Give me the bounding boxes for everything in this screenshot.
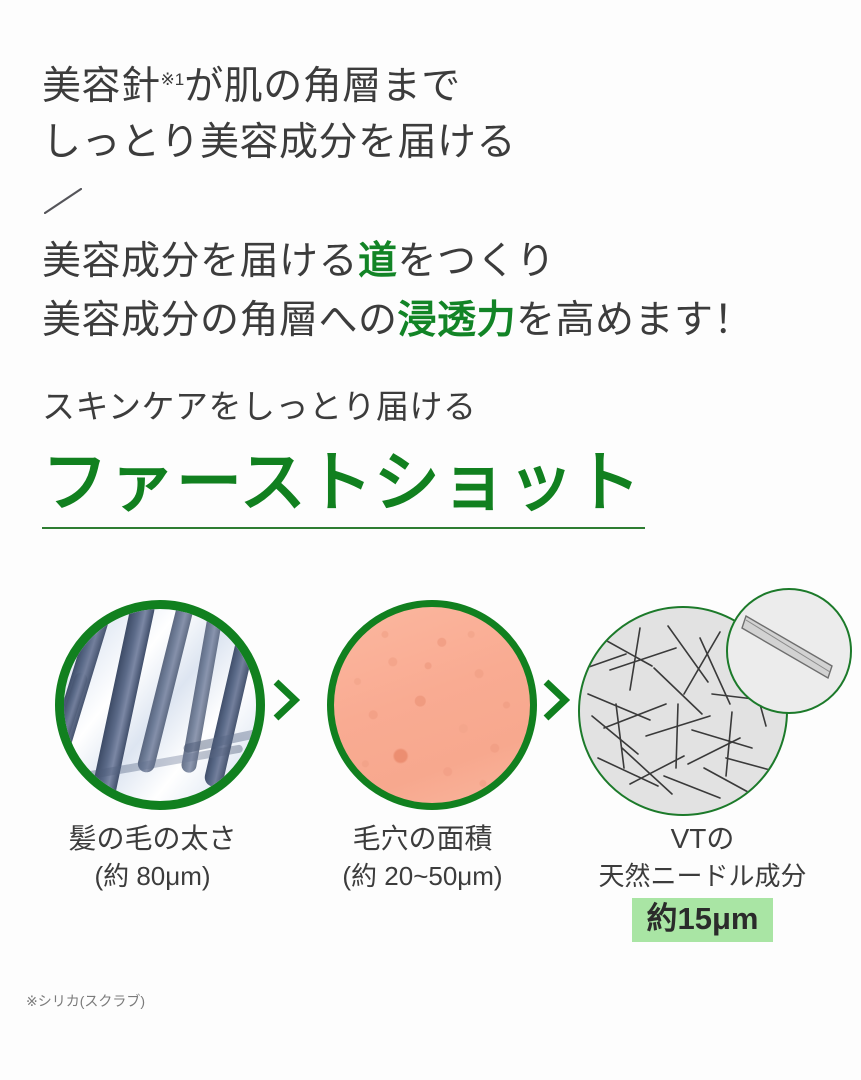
caption-hair: 髪の毛の太さ (約 80μm) [30, 820, 275, 894]
emphasis-line-1-tail: をつくり [398, 240, 556, 283]
skin-pores-icon [327, 600, 537, 810]
footnote-text: ※シリカ(スクラブ) [26, 991, 145, 1011]
caption-hair-sub: (約 80μm) [30, 858, 275, 894]
headline-underline [42, 527, 645, 529]
intro-line-1: 美容針※1が肌の角層まで [42, 52, 832, 115]
intro-copy: 美容針※1が肌の角層まで しっとり美容成分を届ける [42, 52, 832, 171]
needle-size-badge: 約15μm [632, 898, 772, 942]
headline-kicker: スキンケアをしっとり届ける [42, 385, 832, 429]
chevron-right-icon-2 [540, 678, 570, 722]
caption-pore-sub: (約 20~50μm) [300, 858, 545, 894]
slash-accent-icon [44, 188, 82, 214]
hair-strands-icon [55, 600, 265, 810]
emphasis-copy: 美容成分を届ける道をつくり 美容成分の角層への浸透力を高めます！ [42, 232, 832, 350]
emphasis-line-2-head: 美容成分の角層への [42, 299, 398, 342]
intro-line-1-tail: が肌の角層まで [184, 65, 461, 108]
emphasis-line-2: 美容成分の角層への浸透力を高めます！ [42, 291, 832, 350]
emphasis-line-2-tail: を高めます！ [516, 299, 753, 342]
headline-title: ファーストショット [42, 443, 832, 521]
caption-pore: 毛穴の面積 (約 20~50μm) [300, 820, 545, 894]
emphasis-line-1: 美容成分を届ける道をつくり [42, 232, 832, 291]
intro-line-2: しっとり美容成分を届ける [42, 115, 832, 171]
emphasis-line-2-highlight: 浸透力 [398, 299, 517, 342]
emphasis-line-1-highlight: 道 [358, 240, 398, 283]
emphasis-line-1-head: 美容成分を届ける [42, 240, 358, 283]
caption-pore-title: 毛穴の面積 [300, 820, 545, 858]
caption-needle-title: VTの [575, 820, 830, 858]
chevron-right-icon-1 [270, 678, 300, 722]
headline-block: スキンケアをしっとり届ける ファーストショット [42, 385, 832, 529]
caption-needle-sub: 天然ニードル成分 [575, 858, 830, 894]
caption-hair-title: 髪の毛の太さ [30, 820, 275, 858]
caption-needle: VTの 天然ニードル成分 約15μm [575, 820, 830, 942]
footnote-marker: ※1 [161, 70, 185, 89]
intro-line-1-text: 美容針 [42, 65, 161, 108]
infographic-page: 美容針※1が肌の角層まで しっとり美容成分を届ける 美容成分を届ける道をつくり … [0, 0, 861, 1080]
needle-crystals-icon [578, 588, 854, 816]
needle-magnified-inset [726, 588, 852, 714]
panels-row [0, 580, 861, 840]
